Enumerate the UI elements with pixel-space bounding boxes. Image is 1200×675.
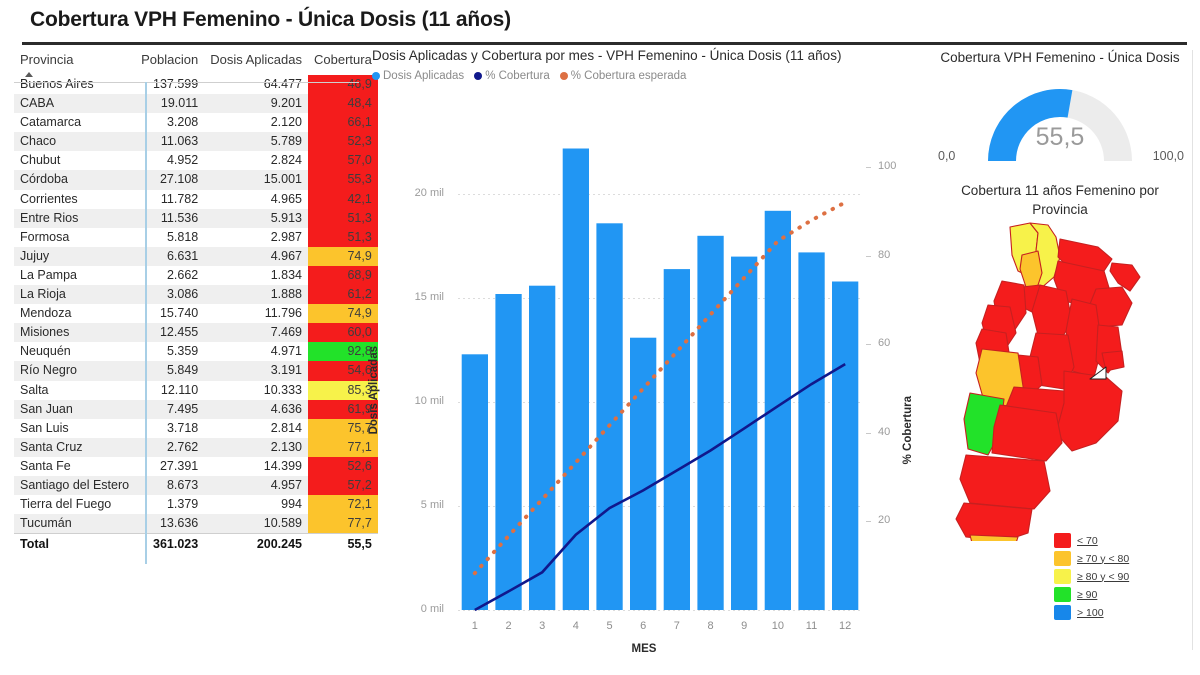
map-title: Cobertura 11 años Femenino por Provincia	[926, 181, 1194, 219]
table-row[interactable]: Chaco11.0635.78952,3	[14, 132, 378, 151]
table-row[interactable]: Jujuy6.6314.96774,9	[14, 247, 378, 266]
legend-label: % Cobertura	[485, 70, 550, 82]
column-header-dosis-aplicadas[interactable]: Dosis Aplicadas	[204, 52, 308, 75]
cell-dosis-aplicadas: 4.636	[204, 400, 308, 419]
map-legend-item[interactable]: < 70	[1054, 532, 1182, 549]
x-axis-title: MES	[366, 643, 922, 655]
cell-dosis-aplicadas: 5.913	[204, 209, 308, 228]
gauge-min-label: 0,0	[938, 149, 955, 163]
table-row[interactable]: Corrientes11.7824.96542,1	[14, 190, 378, 209]
table-row[interactable]: Córdoba27.10815.00155,3	[14, 170, 378, 189]
chart-bar[interactable]	[664, 269, 690, 610]
cell-dosis-aplicadas: 10.589	[204, 514, 308, 534]
cell-provincia: CABA	[14, 94, 135, 113]
cell-dosis-aplicadas: 2.130	[204, 438, 308, 457]
chart-bar[interactable]	[630, 338, 656, 610]
cell-dosis-aplicadas: 1.888	[204, 285, 308, 304]
province-table-panel: Provincia Poblacion Dosis Aplicadas Cobe…	[14, 52, 359, 564]
table-header-row: Provincia Poblacion Dosis Aplicadas Cobe…	[14, 52, 378, 75]
x-axis-tick-label: 3	[529, 620, 555, 632]
cell-provincia: Santa Cruz	[14, 438, 135, 457]
map-province-rionegro	[992, 405, 1062, 461]
cell-provincia: Tierra del Fuego	[14, 495, 135, 514]
table-row[interactable]: Río Negro5.8493.19154,6	[14, 361, 378, 380]
cell-dosis-aplicadas: 10.333	[204, 381, 308, 400]
cell-dosis-aplicadas: 5.789	[204, 132, 308, 151]
map-legend-label: ≥ 80 y < 90	[1077, 571, 1129, 583]
map-legend-swatch	[1054, 533, 1071, 548]
map-province-misiones	[1110, 263, 1140, 291]
cell-provincia: Chaco	[14, 132, 135, 151]
table-row[interactable]: Neuquén5.3594.97192,8	[14, 342, 378, 361]
legend-item[interactable]: % Cobertura esperada	[560, 70, 687, 82]
chart-bar[interactable]	[596, 223, 622, 610]
panel-divider	[1192, 50, 1193, 650]
legend-swatch-icon	[372, 72, 380, 80]
chart-bar[interactable]	[798, 252, 824, 610]
map-province-santacruz	[956, 503, 1032, 541]
cell-dosis-aplicadas: 15.001	[204, 170, 308, 189]
legend-swatch-icon	[560, 72, 568, 80]
cell-provincia: Jujuy	[14, 247, 135, 266]
cell-provincia: Chubut	[14, 151, 135, 170]
table-row[interactable]: Formosa5.8182.98751,3	[14, 228, 378, 247]
legend-item[interactable]: % Cobertura	[474, 70, 550, 82]
cell-dosis-aplicadas: 2.824	[204, 151, 308, 170]
gauge-map-panel: Cobertura VPH Femenino - Única Dosis 55,…	[926, 48, 1194, 663]
cell-provincia: Mendoza	[14, 304, 135, 323]
cell-provincia: Córdoba	[14, 170, 135, 189]
cell-dosis-aplicadas: 1.834	[204, 266, 308, 285]
chart-bar[interactable]	[495, 294, 521, 610]
map-legend-swatch	[1054, 587, 1071, 602]
chart-bar[interactable]	[697, 236, 723, 610]
cell-provincia: Tucumán	[14, 514, 135, 534]
cell-provincia: Buenos Aires	[14, 75, 135, 94]
x-axis-tick-label: 10	[765, 620, 791, 632]
argentina-choropleth-map[interactable]	[926, 221, 1194, 541]
app-header: Cobertura VPH Femenino - Única Dosis (11…	[0, 0, 1200, 45]
table-total-row: Total361.023200.24555,5	[14, 534, 378, 556]
cell-dosis-aplicadas: 4.967	[204, 247, 308, 266]
table-column-divider	[145, 82, 147, 564]
x-axis-tick-label: 11	[799, 620, 825, 632]
table-body: Buenos Aires137.59964.47746,9CABA19.0119…	[14, 75, 378, 556]
legend-item[interactable]: Dosis Aplicadas	[372, 70, 464, 82]
legend-swatch-icon	[474, 72, 482, 80]
cell-provincia: Neuquén	[14, 342, 135, 361]
cell-provincia: San Juan	[14, 400, 135, 419]
chart-panel: Dosis Aplicadas y Cobertura por mes - VP…	[366, 48, 922, 663]
map-province-buenosaires	[1056, 371, 1122, 451]
legend-label: % Cobertura esperada	[571, 70, 687, 82]
table-row[interactable]: Mendoza15.74011.79674,9	[14, 304, 378, 323]
table-row[interactable]: Entre Rios11.5365.91351,3	[14, 209, 378, 228]
map-svg	[926, 221, 1194, 541]
cell-provincia: La Rioja	[14, 285, 135, 304]
cell-dosis-aplicadas: 2.987	[204, 228, 308, 247]
x-axis-tick-label: 1	[462, 620, 488, 632]
x-axis-tick-label: 9	[731, 620, 757, 632]
x-axis-tick-label: 7	[664, 620, 690, 632]
cell-dosis-aplicadas: 64.477	[204, 75, 308, 94]
cell-provincia: Santiago del Estero	[14, 476, 135, 495]
table-row[interactable]: Misiones12.4557.46960,0	[14, 323, 378, 342]
table-row[interactable]: Santiago del Estero8.6734.95757,2	[14, 476, 378, 495]
cell-dosis-aplicadas: 2.814	[204, 419, 308, 438]
table-row[interactable]: Tucumán13.63610.58977,7	[14, 514, 378, 534]
chart-bar[interactable]	[832, 282, 858, 611]
cell-provincia: Río Negro	[14, 361, 135, 380]
map-legend-item[interactable]: ≥ 90	[1054, 586, 1182, 603]
column-header-provincia[interactable]: Provincia	[14, 52, 135, 75]
x-axis-tick-label: 12	[832, 620, 858, 632]
map-legend-label: < 70	[1077, 535, 1098, 547]
cell-dosis-aplicadas: 4.971	[204, 342, 308, 361]
chart-bar[interactable]	[563, 149, 589, 611]
gauge-max-label: 100,0	[1153, 149, 1184, 163]
chart-title: Dosis Aplicadas y Cobertura por mes - VP…	[366, 48, 922, 63]
gauge-value-label: 55,5	[926, 123, 1194, 152]
cell-provincia: Formosa	[14, 228, 135, 247]
table-row[interactable]: La Pampa2.6621.83468,9	[14, 266, 378, 285]
map-legend-label: > 100	[1077, 607, 1104, 619]
table-row[interactable]: Catamarca3.2082.12066,1	[14, 113, 378, 132]
cell-dosis-aplicadas: 994	[204, 495, 308, 514]
map-legend-swatch	[1054, 569, 1071, 584]
table-row[interactable]: San Juan7.4954.63661,9	[14, 400, 378, 419]
cell-dosis-aplicadas: 9.201	[204, 94, 308, 113]
legend-label: Dosis Aplicadas	[383, 70, 464, 82]
cell-provincia: Salta	[14, 381, 135, 400]
table-row[interactable]: La Rioja3.0861.88861,2	[14, 285, 378, 304]
chart-series-svg	[366, 96, 922, 663]
table-row[interactable]: Tierra del Fuego1.37999472,1	[14, 495, 378, 514]
column-header-provincia-label: Provincia	[20, 52, 73, 67]
cell-dosis-aplicadas: 14.399	[204, 457, 308, 476]
map-legend: < 70≥ 70 y < 80≥ 80 y < 90≥ 90> 100	[1054, 532, 1182, 621]
table-row[interactable]: Santa Cruz2.7622.13077,1	[14, 438, 378, 457]
gauge-title: Cobertura VPH Femenino - Única Dosis	[926, 48, 1194, 67]
map-legend-item[interactable]: > 100	[1054, 604, 1182, 621]
map-legend-item[interactable]: ≥ 70 y < 80	[1054, 550, 1182, 567]
cell-provincia: Entre Rios	[14, 209, 135, 228]
cell-dosis-aplicadas: 4.957	[204, 476, 308, 495]
coverage-gauge: 55,5 0,0 100,0	[926, 71, 1194, 175]
map-legend-swatch	[1054, 605, 1071, 620]
cell-provincia: La Pampa	[14, 266, 135, 285]
cell-provincia: Misiones	[14, 323, 135, 342]
column-header-poblacion[interactable]: Poblacion	[135, 52, 204, 75]
province-coverage-table: Provincia Poblacion Dosis Aplicadas Cobe…	[14, 52, 378, 556]
sort-ascending-icon	[25, 72, 33, 77]
x-axis-tick-label: 2	[496, 620, 522, 632]
table-row[interactable]: Buenos Aires137.59964.47746,9	[14, 75, 378, 94]
cell-provincia: Corrientes	[14, 190, 135, 209]
map-legend-label: ≥ 90	[1077, 589, 1097, 601]
cell-provincia: Santa Fe	[14, 457, 135, 476]
table-header-underline	[14, 82, 359, 83]
cell-dosis-aplicadas: 4.965	[204, 190, 308, 209]
cell-dosis-aplicadas: 2.120	[204, 113, 308, 132]
table-row[interactable]: Salta12.11010.33385,3	[14, 381, 378, 400]
header-divider	[22, 42, 1187, 45]
cell-dosis-aplicadas: 7.469	[204, 323, 308, 342]
chart-bar[interactable]	[765, 211, 791, 610]
cell-provincia: San Luis	[14, 419, 135, 438]
map-province-chubut	[960, 455, 1050, 509]
chart-legend: Dosis Aplicadas% Cobertura% Cobertura es…	[366, 70, 922, 82]
x-axis-tick-label: 4	[563, 620, 589, 632]
x-axis-tick-label: 8	[698, 620, 724, 632]
cell-dosis-aplicadas: 11.796	[204, 304, 308, 323]
map-legend-label: ≥ 70 y < 80	[1077, 553, 1129, 565]
total-provincia: Total	[14, 534, 135, 556]
total-dosis: 200.245	[204, 534, 308, 556]
cell-dosis-aplicadas: 3.191	[204, 361, 308, 380]
table-row[interactable]: Chubut4.9522.82457,0	[14, 151, 378, 170]
table-row[interactable]: San Luis3.7182.81475,7	[14, 419, 378, 438]
x-axis-tick-label: 6	[630, 620, 656, 632]
page-title: Cobertura VPH Femenino - Única Dosis (11…	[30, 8, 511, 32]
x-axis-tick-label: 5	[597, 620, 623, 632]
map-legend-swatch	[1054, 551, 1071, 566]
cell-provincia: Catamarca	[14, 113, 135, 132]
map-legend-item[interactable]: ≥ 80 y < 90	[1054, 568, 1182, 585]
chart-plot-area: Dosis Aplicadas % Cobertura 0 mil5 mil10…	[366, 96, 922, 663]
table-row[interactable]: Santa Fe27.39114.39952,6	[14, 457, 378, 476]
table-row[interactable]: CABA19.0119.20148,4	[14, 94, 378, 113]
